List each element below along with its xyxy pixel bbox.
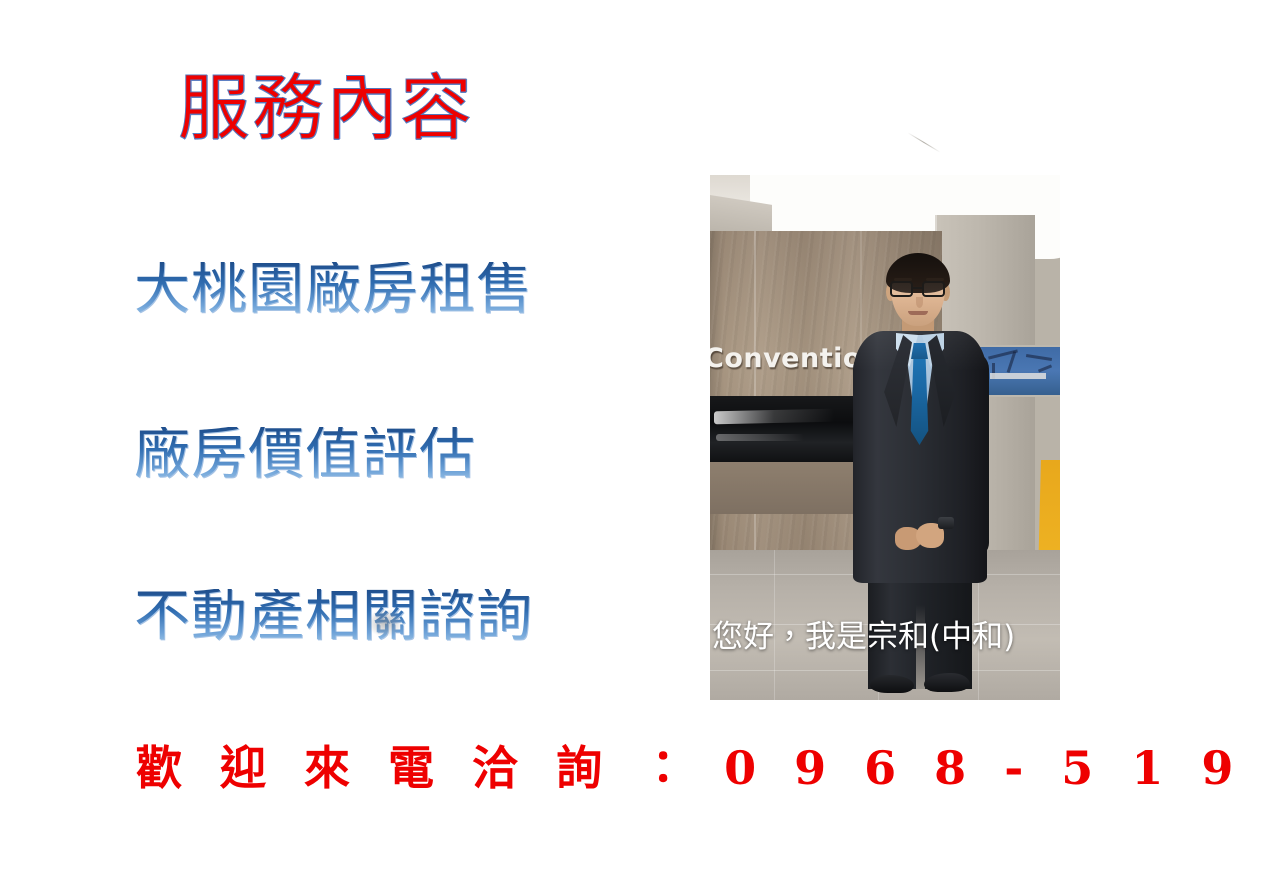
eyeglasses-icon (890, 281, 947, 298)
person-mouth (908, 311, 928, 315)
person-nose (916, 297, 923, 308)
service-item-2: 廠房價值評估 (134, 427, 476, 483)
photo-caption: 您好，我是宗和(中和) (712, 611, 1060, 656)
contact-phone-line: 歡 迎 來 電 洽 詢 ： 0 9 6 8 - 5 1 9 - 8 8 8 (136, 744, 1263, 792)
person-left-shoe (870, 675, 914, 693)
service-item-3: 不動產相關諮詢 (134, 589, 533, 645)
profile-photo: Convention Ce (710, 175, 1060, 700)
slide-canvas: 服務內容 大桃園廠房租售 廠房價值評估 不動產相關諮詢 歡 迎 來 電 洽 詢 … (0, 0, 1263, 891)
page-title: 服務內容 (178, 72, 474, 144)
person-wristwatch (938, 517, 954, 529)
person-right-shoe (924, 673, 970, 692)
person-necktie-knot (911, 343, 928, 359)
service-item-1: 大桃園廠房租售 (134, 262, 533, 318)
hairline-artifact (907, 132, 940, 152)
